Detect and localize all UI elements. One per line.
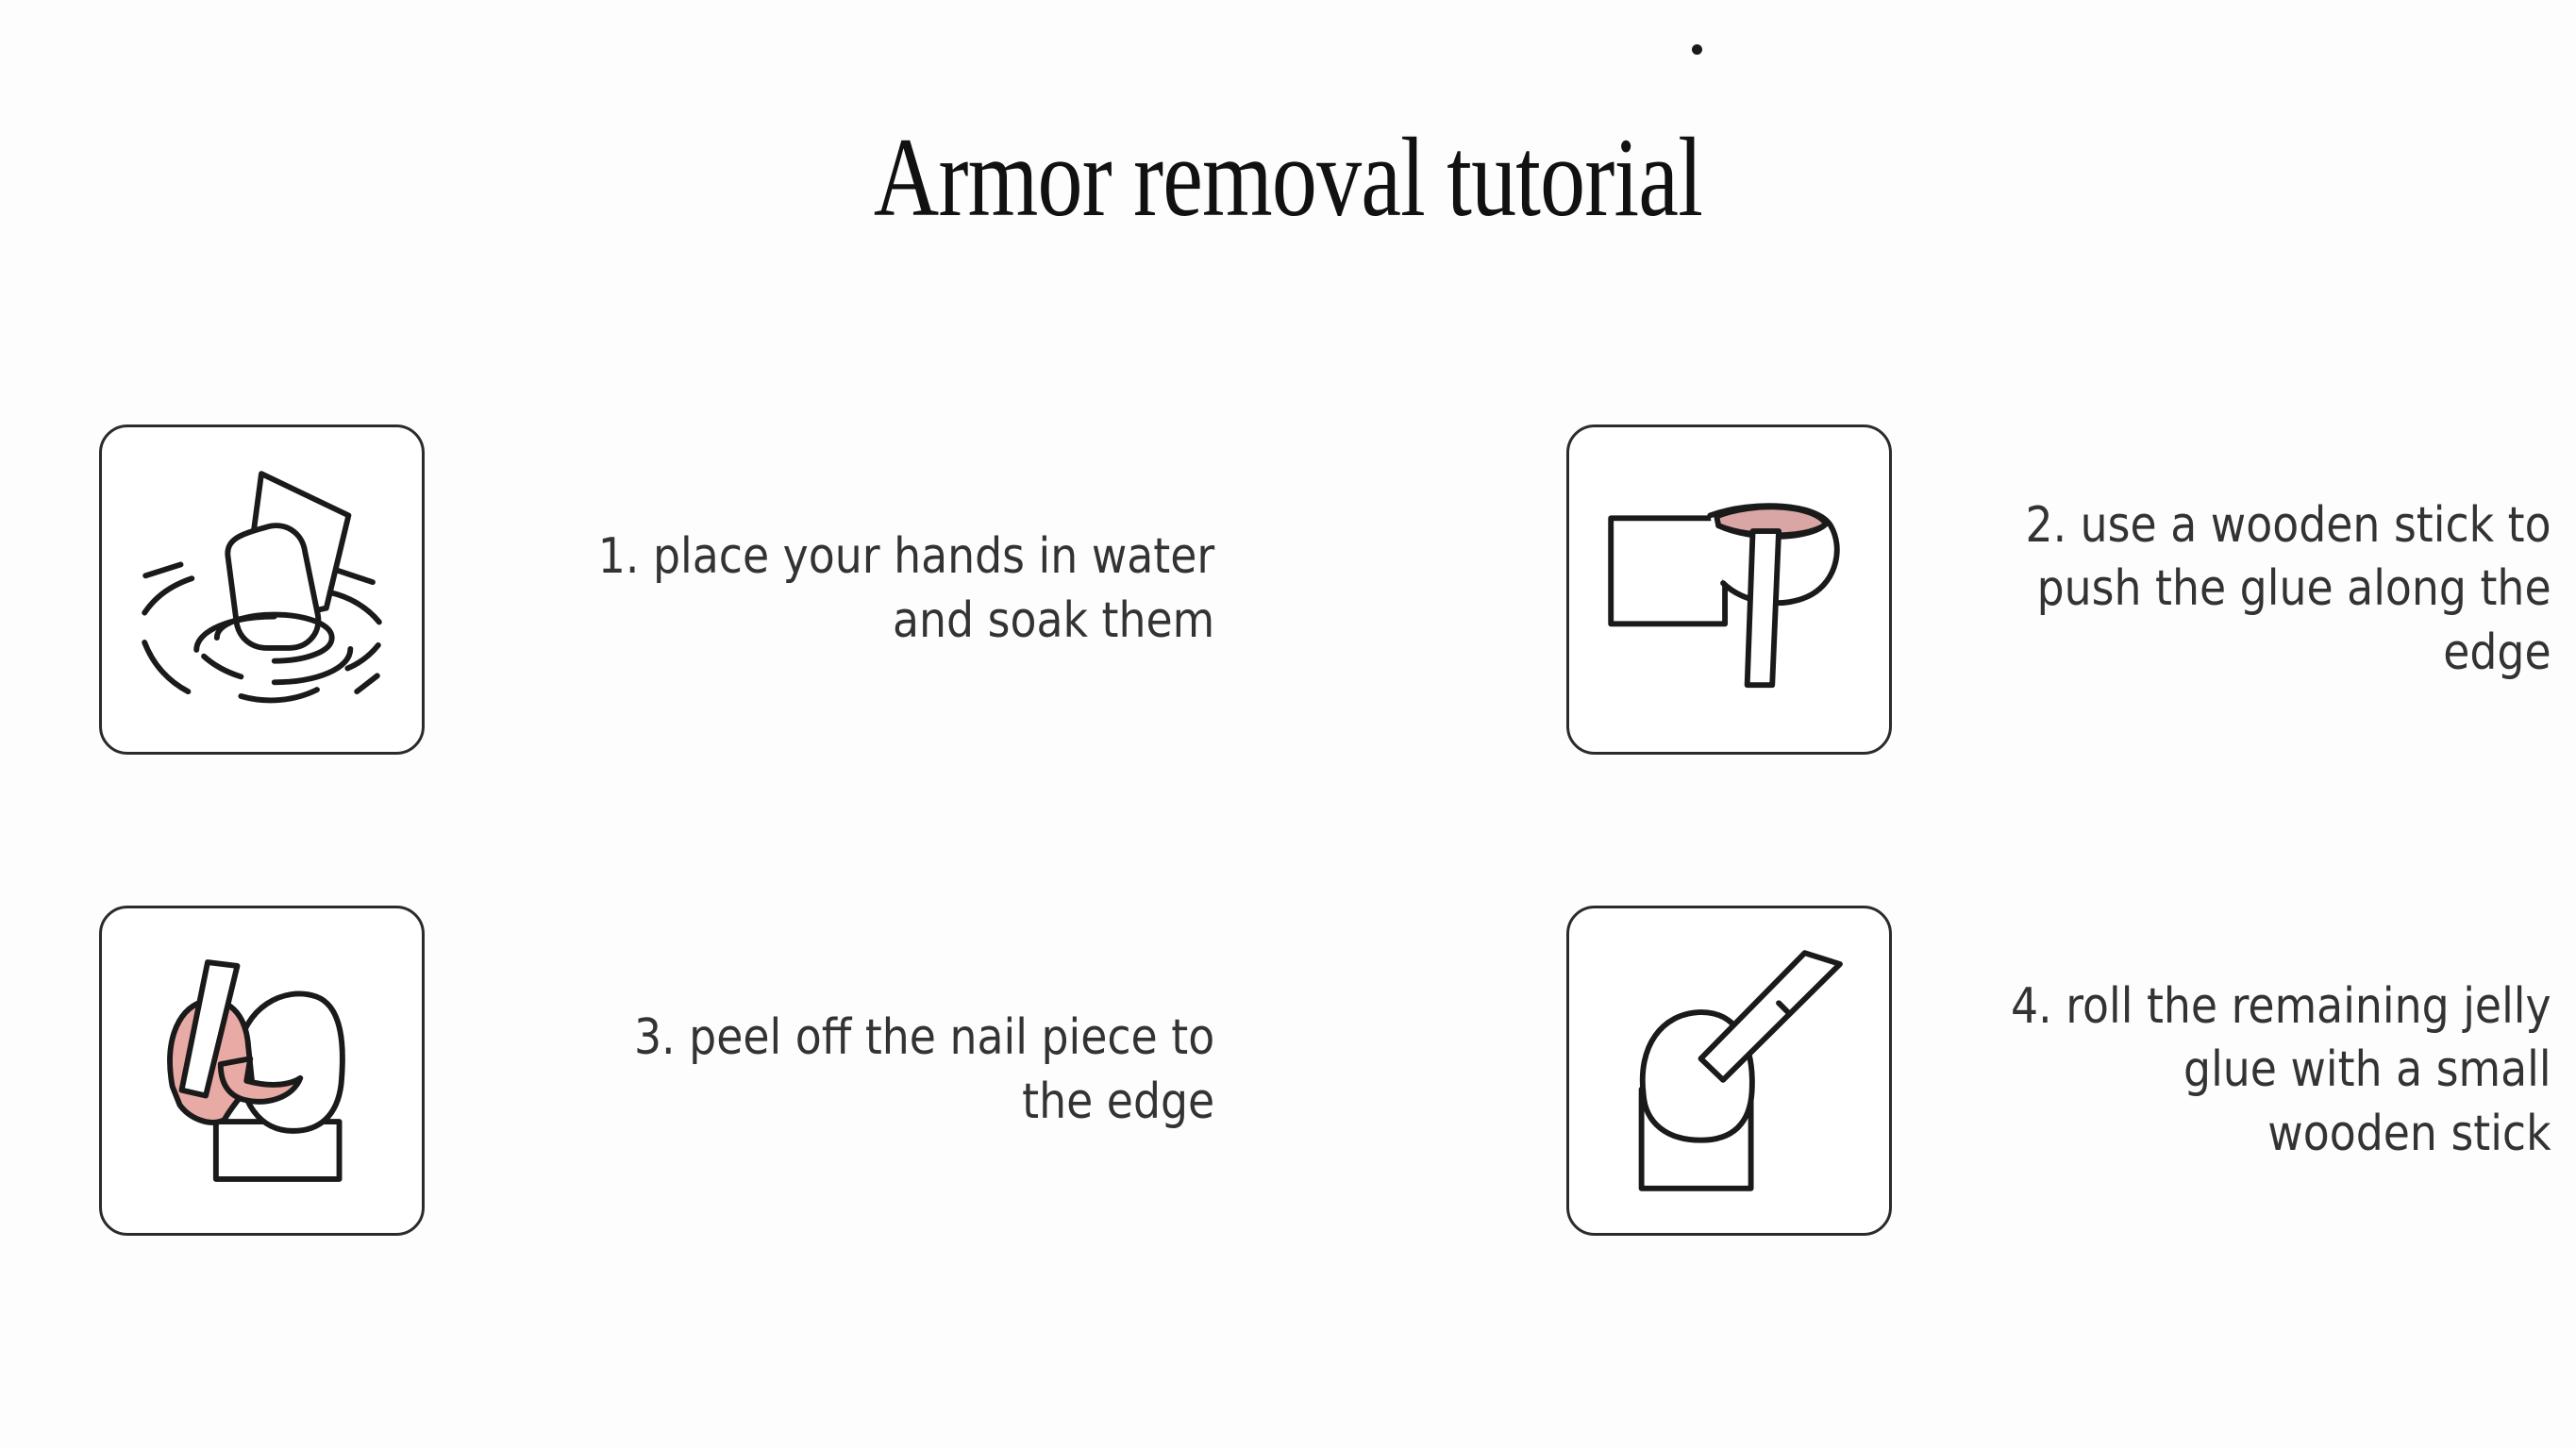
tutorial-page: Armor removal tutorial: [0, 0, 2576, 1448]
step-2-caption: 2. use a wooden stick to push the glue a…: [1971, 494, 2555, 686]
step-1-caption: 1. place your hands in water and soak th…: [526, 525, 1264, 653]
step-3-caption: 3. peel off the nail piece to the edge: [526, 1007, 1264, 1134]
step-item-3: 3. peel off the nail piece to the edge: [0, 906, 1288, 1236]
step-3-icon-panel: [99, 906, 425, 1236]
step-row-1: 1. place your hands in water and soak th…: [0, 424, 2576, 755]
step-4-icon-panel: [1566, 906, 1892, 1236]
step-item-2: 2. use a wooden stick to push the glue a…: [1288, 424, 2576, 755]
nail-soaking-in-water-icon: [102, 427, 422, 752]
wooden-stick-pushing-glue-icon: [1569, 427, 1889, 752]
peeling-nail-piece-icon: [102, 908, 422, 1233]
page-title: Armor removal tutorial: [258, 121, 2318, 234]
step-item-1: 1. place your hands in water and soak th…: [0, 424, 1288, 755]
steps-container: 1. place your hands in water and soak th…: [0, 424, 2576, 1236]
stray-dot-mark: [1692, 44, 1702, 55]
rolling-jelly-glue-stick-icon: [1569, 908, 1889, 1233]
step-item-4: 4. roll the remaining jelly glue with a …: [1288, 906, 2576, 1236]
step-2-icon-panel: [1566, 424, 1892, 755]
step-1-icon-panel: [99, 424, 425, 755]
step-4-caption: 4. roll the remaining jelly glue with a …: [1971, 975, 2555, 1167]
step-row-2: 3. peel off the nail piece to the edge: [0, 906, 2576, 1236]
